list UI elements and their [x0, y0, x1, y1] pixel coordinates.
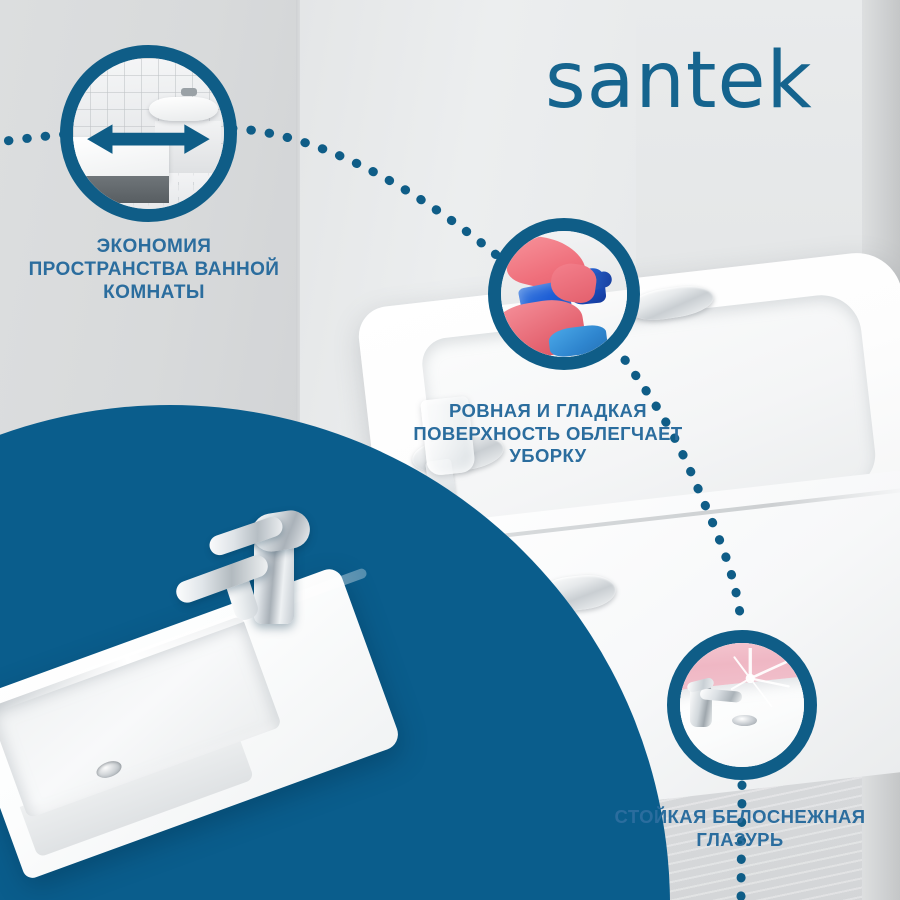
basin-drain — [732, 715, 757, 726]
product-washbasin — [0, 508, 412, 868]
feature-circle-space-saving[interactable] — [60, 45, 237, 222]
cleaning-gloves-spray-icon — [501, 231, 627, 357]
caption-durable-glaze: СТОЙКАЯ БЕЛОСНЕЖНАЯ ГЛАЗУРЬ — [585, 806, 895, 851]
basin-faucet — [181, 88, 197, 96]
caption-space-saving: ЭКОНОМИЯ ПРОСТРАНСТВА ВАННОЙ КОМНАТЫ — [18, 235, 290, 305]
double-headed-arrow-icon — [85, 118, 212, 160]
infographic-canvas: santek ЭКОНОМИЯ ПРОСТРАНСТВА ВАННОЙ КОМН… — [0, 0, 900, 900]
feature-circle-durable-glaze[interactable] — [667, 630, 817, 780]
feature-circle-easy-cleaning[interactable] — [488, 218, 640, 370]
bathtub-base — [69, 176, 169, 203]
brand-logo-santek: santek — [545, 42, 813, 120]
shiny-faucet-sparkle-icon — [680, 643, 804, 767]
product-mixer-tap — [212, 498, 332, 648]
bathroom-width-arrow-icon — [73, 58, 224, 209]
caption-easy-cleaning: РОВНАЯ И ГЛАДКАЯ ПОВЕРХНОСТЬ ОБЛЕГЧАЕТ У… — [388, 400, 708, 468]
sparkle-shine-icon — [730, 648, 797, 708]
